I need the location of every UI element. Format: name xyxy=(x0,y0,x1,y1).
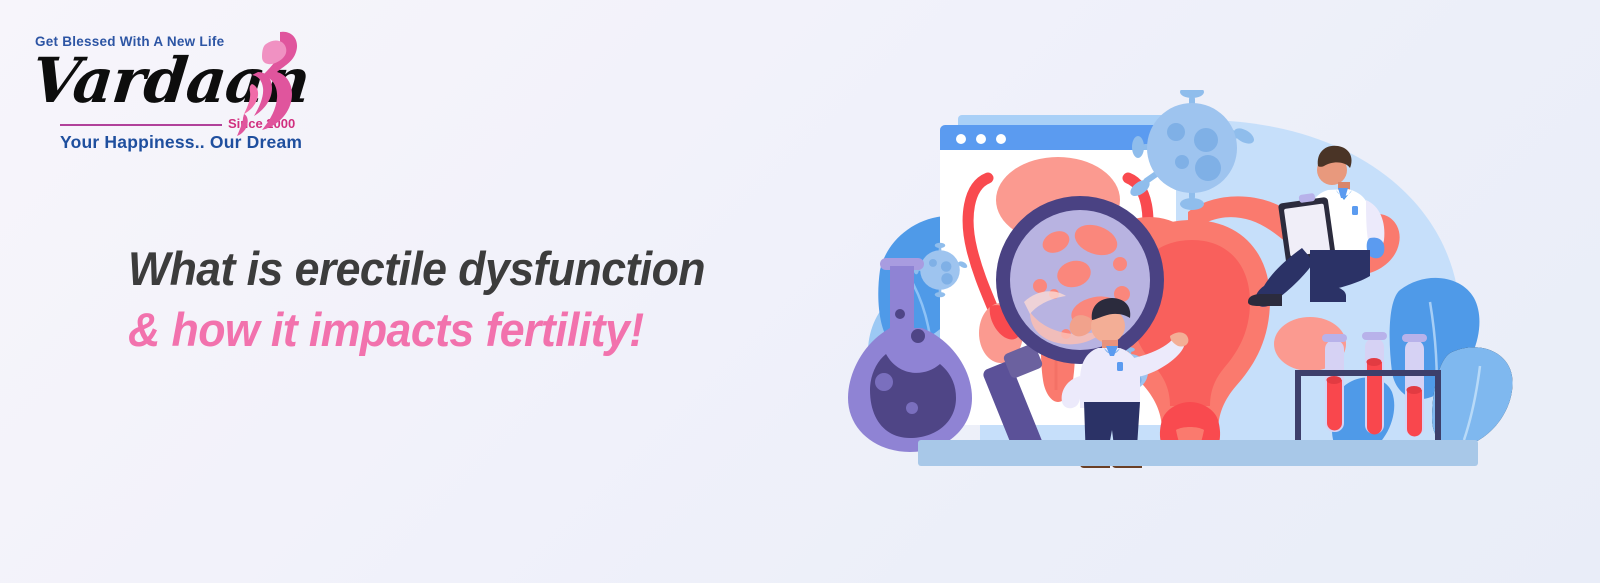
brand-logo[interactable]: Get Blessed With A New Life Vardaan Sinc… xyxy=(32,28,302,153)
browser-dot xyxy=(996,134,1006,144)
fertility-research-illustration xyxy=(840,90,1540,475)
logo-divider-rule xyxy=(60,124,222,126)
headline-line-1: What is erectile dysfunction xyxy=(128,238,850,299)
headline-line-2: & how it impacts fertility! xyxy=(128,299,850,360)
pregnant-woman-icon xyxy=(222,28,302,138)
platform-base xyxy=(918,440,1478,466)
banner-root: Get Blessed With A New Life Vardaan Sinc… xyxy=(0,0,1600,583)
browser-dot xyxy=(956,134,966,144)
browser-dot xyxy=(976,134,986,144)
headline-block: What is erectile dysfunction & how it im… xyxy=(128,238,888,360)
